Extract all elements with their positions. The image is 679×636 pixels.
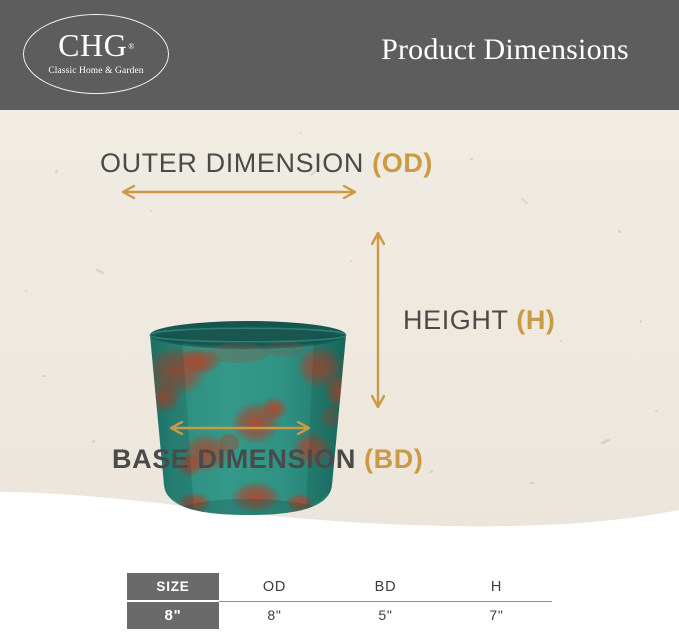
table-header-size: SIZE: [127, 573, 219, 601]
base-dimension-label: BASE DIMENSION (BD): [112, 444, 423, 475]
product-dimensions-infographic: CHG® Classic Home & Garden Product Dimen…: [0, 0, 679, 636]
table-header-bd: BD: [330, 573, 441, 601]
spec-table: SIZE OD BD H 8" 8" 5" 7": [127, 573, 552, 629]
height-arrow: [371, 228, 385, 412]
header-bar: CHG® Classic Home & Garden Product Dimen…: [0, 0, 679, 110]
height-text: HEIGHT: [403, 305, 508, 335]
outer-dimension-text: OUTER DIMENSION: [100, 148, 364, 178]
brand-logo: CHG® Classic Home & Garden: [23, 14, 171, 96]
page-title: Product Dimensions: [355, 33, 655, 67]
base-dimension-text: BASE DIMENSION: [112, 444, 356, 474]
outer-dimension-label: OUTER DIMENSION (OD): [100, 148, 433, 179]
table-row: 8" 8" 5" 7": [127, 601, 552, 629]
height-label: HEIGHT (H): [403, 305, 556, 336]
logo-monogram: CHG®: [23, 28, 169, 62]
logo-monogram-text: CHG: [58, 27, 127, 63]
outer-dimension-code: (OD): [372, 148, 433, 178]
table-header-row: SIZE OD BD H: [127, 573, 552, 601]
cell-size: 8": [127, 601, 219, 629]
base-dimension-arrow: [166, 421, 314, 435]
height-code: (H): [516, 305, 555, 335]
cell-od: 8": [219, 601, 330, 629]
dimensions-table: SIZE OD BD H 8" 8" 5" 7": [127, 573, 552, 629]
planter-pot-image: [134, 313, 362, 521]
logo-tagline: Classic Home & Garden: [23, 66, 169, 76]
cell-h: 7": [441, 601, 552, 629]
table-header-h: H: [441, 573, 552, 601]
base-dimension-code: (BD): [364, 444, 423, 474]
table-header-od: OD: [219, 573, 330, 601]
outer-dimension-arrow: [118, 185, 360, 199]
registered-trademark-icon: ®: [128, 42, 135, 51]
cell-bd: 5": [330, 601, 441, 629]
